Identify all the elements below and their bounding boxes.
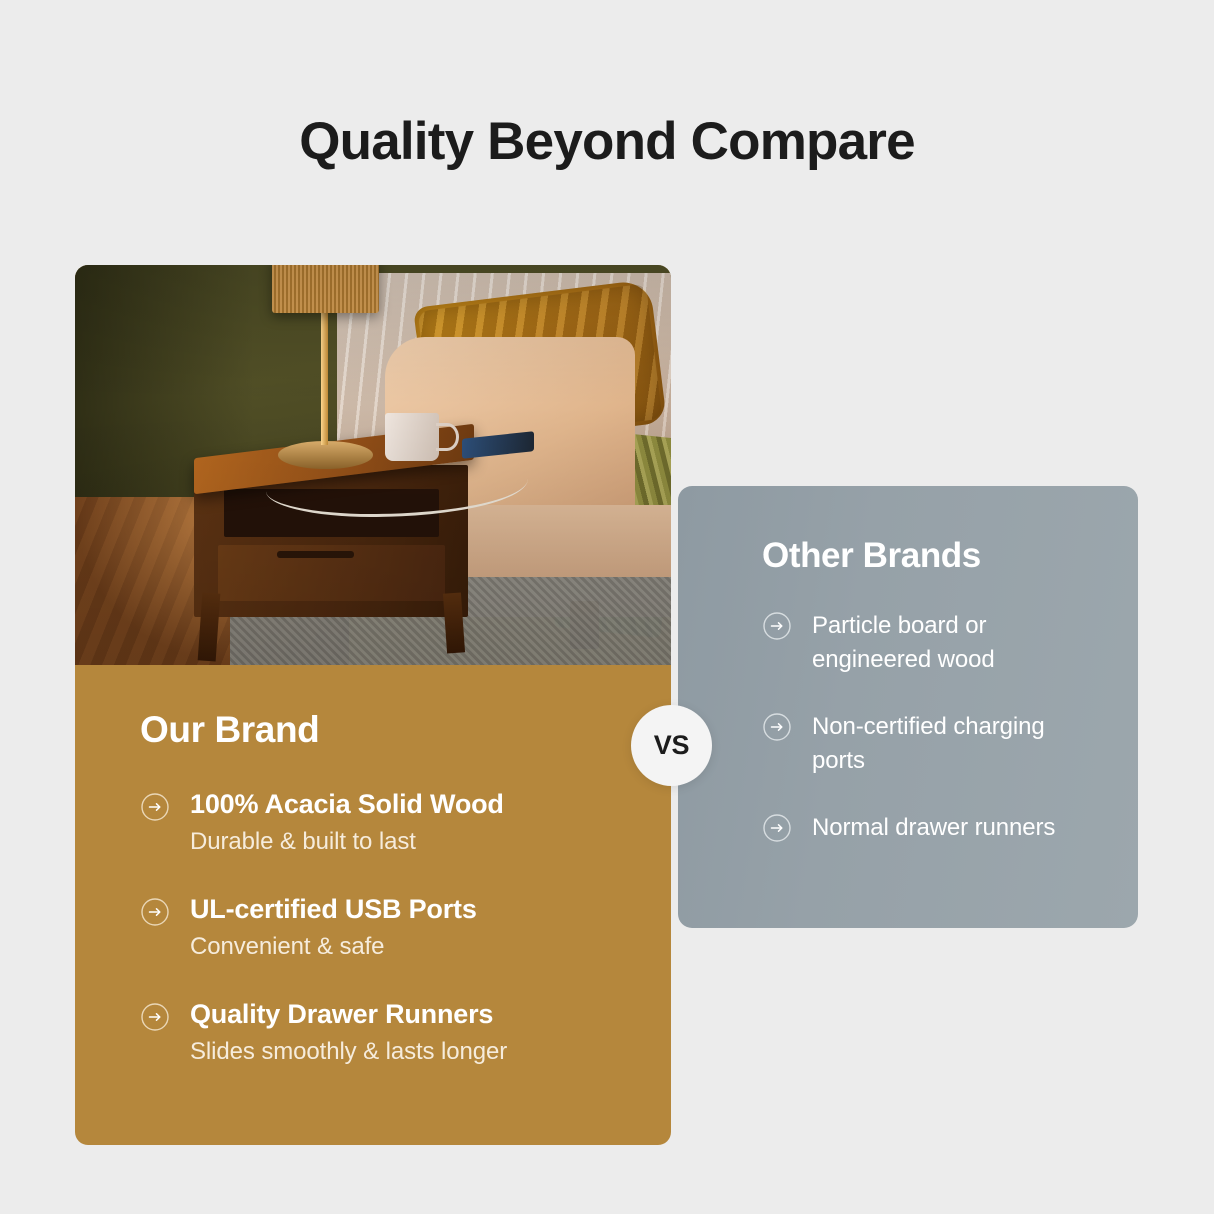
list-item: Particle board or engineered wood bbox=[762, 608, 1102, 677]
other-brands-list: Particle board or engineered wood Non-ce… bbox=[762, 608, 1102, 845]
product-photo bbox=[75, 265, 671, 665]
photo-overlay bbox=[75, 265, 671, 665]
arrow-right-circle-icon bbox=[140, 897, 170, 927]
list-item-subtitle: Durable & built to last bbox=[190, 826, 504, 857]
list-item-content: 100% Acacia Solid Wood Durable & built t… bbox=[190, 789, 504, 857]
list-item-title: Quality Drawer Runners bbox=[190, 999, 493, 1029]
list-item-text: Normal drawer runners bbox=[812, 810, 1055, 845]
vs-badge: VS bbox=[631, 705, 712, 786]
list-item-content: Quality Drawer Runners Slides smoothly &… bbox=[190, 999, 507, 1067]
list-item-subtitle: Slides smoothly & lasts longer bbox=[190, 1036, 507, 1067]
arrow-right-circle-icon bbox=[762, 813, 792, 843]
comparison-infographic: Quality Beyond Compare Other Brands Part… bbox=[0, 0, 1214, 1214]
arrow-right-circle-icon bbox=[140, 792, 170, 822]
list-item: 100% Acacia Solid Wood Durable & built t… bbox=[140, 789, 611, 857]
list-item-text: Particle board or engineered wood bbox=[812, 608, 1102, 677]
list-item-subtitle: Convenient & safe bbox=[190, 931, 477, 962]
arrow-right-circle-icon bbox=[762, 712, 792, 742]
list-item-title: 100% Acacia Solid Wood bbox=[190, 789, 504, 819]
list-item: Quality Drawer Runners Slides smoothly &… bbox=[140, 999, 611, 1067]
arrow-right-circle-icon bbox=[762, 611, 792, 641]
our-brand-heading: Our Brand bbox=[140, 709, 611, 751]
other-brands-card: Other Brands Particle board or engineere… bbox=[678, 486, 1138, 928]
list-item-text: Non-certified charging ports bbox=[812, 709, 1102, 778]
page-title: Quality Beyond Compare bbox=[0, 113, 1214, 171]
list-item: Non-certified charging ports bbox=[762, 709, 1102, 778]
list-item: UL-certified USB Ports Convenient & safe bbox=[140, 894, 611, 962]
arrow-right-circle-icon bbox=[140, 1002, 170, 1032]
other-brands-heading: Other Brands bbox=[762, 536, 981, 576]
our-brand-panel: Our Brand 100% Acacia Solid Wood Durable… bbox=[75, 665, 671, 1145]
list-item-title: UL-certified USB Ports bbox=[190, 894, 477, 924]
list-item-content: UL-certified USB Ports Convenient & safe bbox=[190, 894, 477, 962]
our-brand-card: Our Brand 100% Acacia Solid Wood Durable… bbox=[75, 265, 671, 1145]
list-item: Normal drawer runners bbox=[762, 810, 1102, 845]
